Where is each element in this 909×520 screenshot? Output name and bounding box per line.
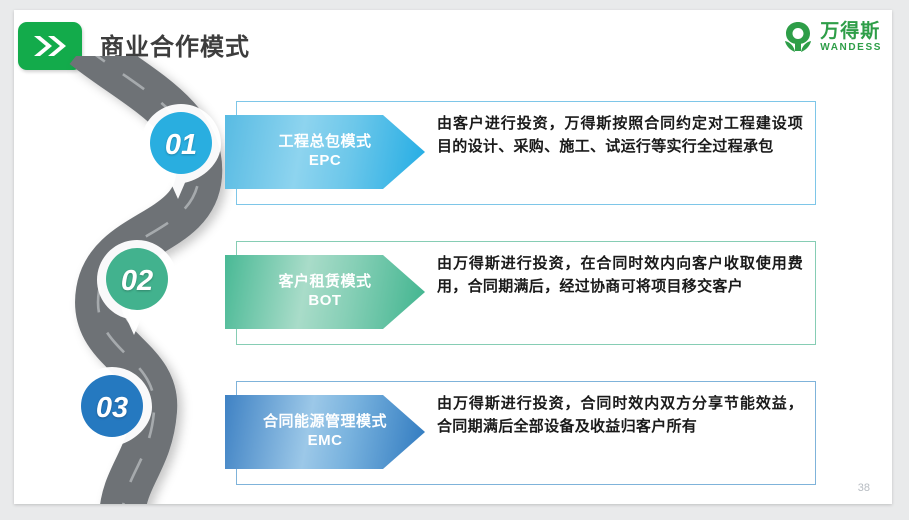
mode-row-bot: 客户租赁模式 BOT 由万得斯进行投资，在合同时效内向客户收取使用费用，合同期满… — [236, 241, 816, 345]
mode-description-epc: 由客户进行投资，万得斯按照合同约定对工程建设项目的设计、采购、施工、试运行等实行… — [437, 112, 803, 159]
mode-description-emc: 由万得斯进行投资，合同时效内双方分享节能效益，合同期满后全部设备及收益归客户所有 — [437, 392, 803, 439]
sprout-leaf-icon — [781, 20, 815, 54]
mode-arrow-epc[interactable]: 工程总包模式 EPC — [225, 115, 425, 189]
pin-shape-icon — [94, 238, 180, 338]
mode-description-bot: 由万得斯进行投资，在合同时效内向客户收取使用费用，合同期满后，经过协商可将项目移… — [437, 252, 803, 299]
company-logo: 万得斯 WANDESS — [781, 20, 882, 54]
logo-name-cn: 万得斯 — [820, 22, 882, 41]
mode-abbr-epc: EPC — [309, 151, 341, 171]
mode-arrow-emc[interactable]: 合同能源管理模式 EMC — [225, 395, 425, 469]
mode-name-bot: 客户租赁模式 — [278, 273, 371, 292]
pin-shape-icon — [69, 365, 155, 465]
mode-name-epc: 工程总包模式 — [278, 133, 371, 152]
mode-row-emc: 合同能源管理模式 EMC 由万得斯进行投资，合同时效内双方分享节能效益，合同期满… — [236, 381, 816, 485]
mode-row-epc: 工程总包模式 EPC 由客户进行投资，万得斯按照合同约定对工程建设项目的设计、采… — [236, 101, 816, 205]
mode-abbr-bot: BOT — [308, 291, 341, 311]
pin-shape-icon — [138, 102, 224, 202]
double-chevron-right-icon — [31, 34, 69, 58]
page-number: 38 — [858, 482, 870, 494]
mode-name-emc: 合同能源管理模式 — [263, 413, 387, 432]
logo-name-en: WANDESS — [820, 43, 882, 53]
slide-canvas: 商业合作模式 万得斯 WANDESS 01 — [14, 10, 892, 504]
step-pin-01[interactable]: 01 — [138, 102, 224, 202]
mode-arrow-bot[interactable]: 客户租赁模式 BOT — [225, 255, 425, 329]
step-pin-02[interactable]: 02 — [94, 238, 180, 338]
mode-abbr-emc: EMC — [308, 431, 343, 451]
step-pin-03[interactable]: 03 — [69, 365, 155, 465]
